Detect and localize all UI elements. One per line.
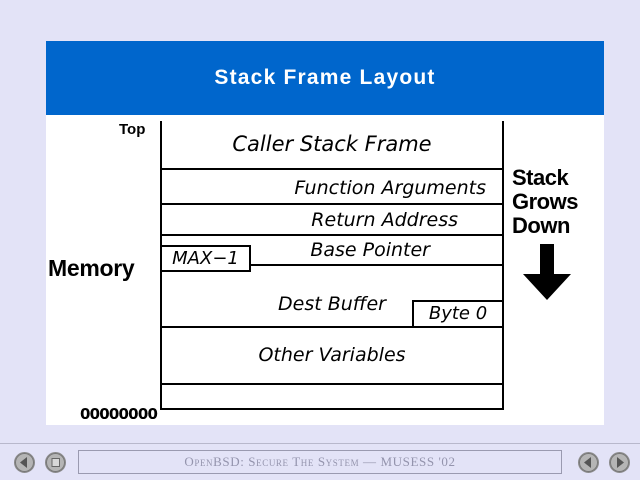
marker-max-minus-one: MAX−1 (160, 245, 251, 272)
stack-direction-line-2: Grows (512, 190, 604, 214)
back-icon (15, 453, 34, 472)
diagram-label-bottom-address: 00000000 (80, 405, 157, 423)
stack-row-function-arguments: Function Arguments (162, 170, 502, 205)
stack-row-label: Base Pointer (310, 239, 430, 261)
stack-row-label: Other Variables (258, 344, 405, 366)
stack-frame-table: Caller Stack Frame Function Arguments Re… (160, 121, 504, 410)
stack-row-empty (162, 385, 502, 410)
stack-row-label: Return Address (311, 209, 458, 231)
down-arrow-icon (518, 244, 576, 300)
status-text: OpenBSD: Secure The System — MUSESS '02 (79, 451, 561, 473)
previous-page-icon (579, 453, 598, 472)
stack-row-caller-frame: Caller Stack Frame (162, 121, 502, 170)
stack-direction-line-3: Down (512, 214, 604, 238)
slide-title: Stack Frame Layout (46, 41, 604, 115)
stack-row-label: Function Arguments (294, 177, 486, 199)
stack-row-return-address: Return Address (162, 205, 502, 236)
previous-page-button[interactable] (578, 452, 599, 473)
marker-label: MAX−1 (172, 248, 239, 269)
next-page-button[interactable] (609, 452, 630, 473)
status-bar: OpenBSD: Secure The System — MUSESS '02 (78, 450, 562, 474)
stop-icon (46, 453, 65, 472)
viewer-toolbar: OpenBSD: Secure The System — MUSESS '02 (0, 443, 640, 480)
stack-row-other-variables: Other Variables (162, 328, 502, 385)
diagram-label-memory: Memory (48, 255, 134, 282)
slide-title-banner: Stack Frame Layout (46, 41, 604, 115)
stack-row-label: Caller Stack Frame (232, 132, 431, 156)
stack-row-dest-buffer: MAX−1 Dest Buffer Byte 0 (162, 266, 502, 328)
stop-button[interactable] (45, 452, 66, 473)
slide-canvas: Stack Frame Layout Top Memory 00000000 S… (46, 41, 604, 425)
marker-label: Byte 0 (429, 303, 487, 324)
stack-direction-line-1: Stack (512, 166, 604, 190)
stack-direction-note: Stack Grows Down (512, 166, 604, 238)
back-button[interactable] (14, 452, 35, 473)
stack-row-label: Dest Buffer (278, 293, 386, 315)
diagram-label-top: Top (119, 121, 145, 138)
marker-byte-zero: Byte 0 (412, 300, 504, 328)
next-page-icon (610, 453, 629, 472)
